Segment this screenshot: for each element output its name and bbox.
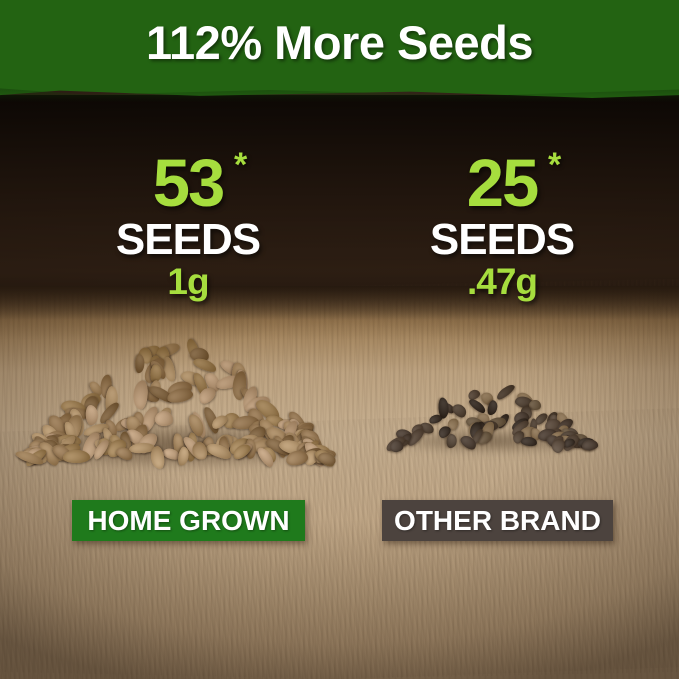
seed-count-home-grown: 53 * [153,152,224,216]
asterisk-icon-other-brand: * [548,148,559,182]
seed-count-value-other-brand: 25 [467,146,538,221]
seeds-label-other-brand: SEEDS [372,218,632,262]
seed-weight-other-brand: .47g [372,263,632,302]
stat-column-home-grown: 53 * SEEDS 1g [58,152,318,301]
seed-pile-home-grown [28,338,328,463]
seed [133,379,149,409]
asterisk-icon-home-grown: * [234,148,245,182]
badge-other-brand: OTHER BRAND [382,500,613,541]
seed [428,413,443,425]
seed [155,411,174,427]
seed [134,354,144,373]
seed-count-value-home-grown: 53 [153,146,224,221]
seeds-label-home-grown: SEEDS [58,218,318,262]
seed-weight-home-grown: 1g [58,263,318,302]
seed-pile-other-brand [392,388,592,450]
badge-other-brand-label: OTHER BRAND [394,505,601,537]
product-comparison-infographic: 112% More Seeds 53 * SEEDS 1g 25 * SEEDS… [0,0,679,679]
stat-column-other-brand: 25 * SEEDS .47g [372,152,632,301]
badge-home-grown-label: HOME GROWN [87,505,289,537]
seed [450,401,469,419]
seed-count-other-brand: 25 * [467,152,538,216]
seed [63,449,90,462]
page-title: 112% More Seeds [0,17,679,69]
badge-home-grown: HOME GROWN [72,500,305,541]
